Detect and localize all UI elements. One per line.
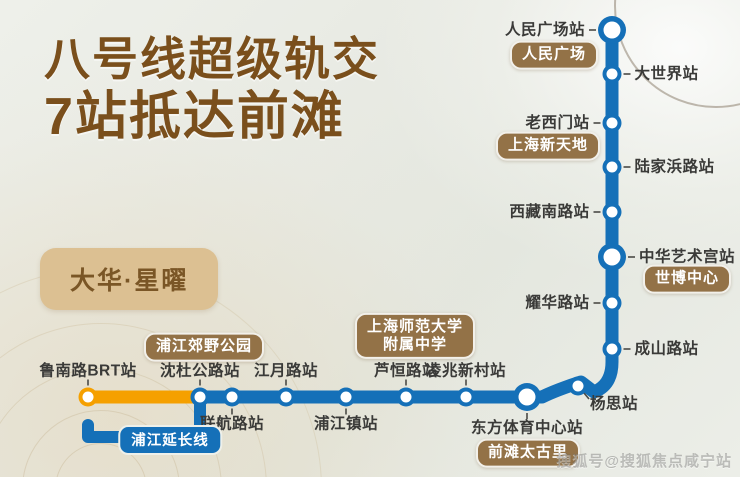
station-node-center [281, 392, 292, 403]
station-node[interactable] [79, 388, 98, 407]
station-node-center [341, 392, 352, 403]
station-label-杨思站: 杨思站 [590, 396, 638, 412]
station-node[interactable] [603, 294, 622, 313]
station-node[interactable] [598, 243, 626, 271]
poi-badge-line: 上海新天地 [508, 137, 588, 155]
station-node[interactable] [513, 383, 541, 411]
station-node[interactable] [603, 340, 622, 359]
poi-badge-上海师范大学附属中学: 上海师范大学附属中学 [355, 313, 475, 359]
station-node-center [607, 344, 618, 355]
station-label-鲁南路BRT站: 鲁南路BRT站 [39, 363, 136, 379]
brand-name: 大华·星曜 [70, 267, 188, 295]
station-node-center [604, 249, 621, 266]
poi-badge-人民广场: 人民广场 [510, 41, 598, 70]
station-node-center [461, 392, 472, 403]
station-label-江月路站: 江月路站 [254, 363, 318, 379]
station-label-西藏南路站: 西藏南路站 [509, 204, 589, 220]
poi-badge-line: 人民广场 [522, 46, 586, 64]
station-label-耀华路站: 耀华路站 [525, 295, 589, 311]
station-label-大世界站: 大世界站 [635, 66, 699, 82]
station-node-center [227, 392, 238, 403]
station-node-center [607, 298, 618, 309]
headline-block: 八号线超级轨交 7站抵达前滩 [44, 36, 380, 144]
poi-badge-世博中心: 世博中心 [643, 265, 731, 294]
station-node-center [604, 22, 621, 39]
station-node-center [519, 389, 536, 406]
poi-badge-line: 浦江郊野公园 [156, 338, 252, 356]
station-label-东方体育中心站: 东方体育中心站 [471, 420, 583, 436]
station-node[interactable] [603, 203, 622, 222]
station-node-center [607, 118, 618, 129]
poi-badge-浦江郊野公园: 浦江郊野公园 [144, 333, 264, 362]
headline-line-1: 八号线超级轨交 [44, 36, 380, 84]
station-node-center [573, 381, 584, 392]
station-node-center [83, 392, 94, 403]
poi-badge-line: 附属中学 [367, 336, 463, 354]
station-node-center [195, 392, 206, 403]
branch-line-label: 浦江延长线 [131, 433, 209, 449]
station-label-沈杜公路站: 沈杜公路站 [160, 363, 240, 379]
brand-badge: 大华·星曜 [40, 248, 218, 310]
headline-line-2: 7站抵达前滩 [44, 90, 380, 144]
station-node-center [607, 207, 618, 218]
watermark: 搜狐号@搜狐焦点咸宁站 [556, 450, 732, 471]
poi-badge-上海新天地: 上海新天地 [496, 132, 600, 161]
station-label-中华艺术宫站: 中华艺术宫站 [639, 249, 735, 265]
station-label-芦恒路站: 芦恒路站 [374, 363, 438, 379]
station-node[interactable] [603, 65, 622, 84]
station-label-陆家浜路站: 陆家浜路站 [635, 159, 715, 175]
station-node[interactable] [191, 388, 210, 407]
station-label-老西门站: 老西门站 [525, 115, 589, 131]
station-node[interactable] [337, 388, 356, 407]
station-node[interactable] [397, 388, 416, 407]
poi-badge-line: 上海师范大学 [367, 318, 463, 336]
station-node[interactable] [603, 158, 622, 177]
station-node[interactable] [457, 388, 476, 407]
station-node[interactable] [277, 388, 296, 407]
station-label-成山路站: 成山路站 [635, 341, 699, 357]
station-node-center [401, 392, 412, 403]
station-node[interactable] [598, 16, 626, 44]
station-node-center [607, 162, 618, 173]
poi-badge-line: 世博中心 [655, 270, 719, 288]
station-label-浦江镇站: 浦江镇站 [314, 416, 378, 432]
station-node[interactable] [569, 377, 588, 396]
branch-line-tag: 浦江延长线 [118, 425, 222, 455]
station-node[interactable] [223, 388, 242, 407]
subway-line-poster: 八号线超级轨交 7站抵达前滩 大华·星曜 人民广场站大世界站老西门站陆家浜路站西… [0, 0, 740, 477]
station-node-center [607, 69, 618, 80]
station-label-人民广场站: 人民广场站 [505, 22, 585, 38]
station-node[interactable] [603, 114, 622, 133]
